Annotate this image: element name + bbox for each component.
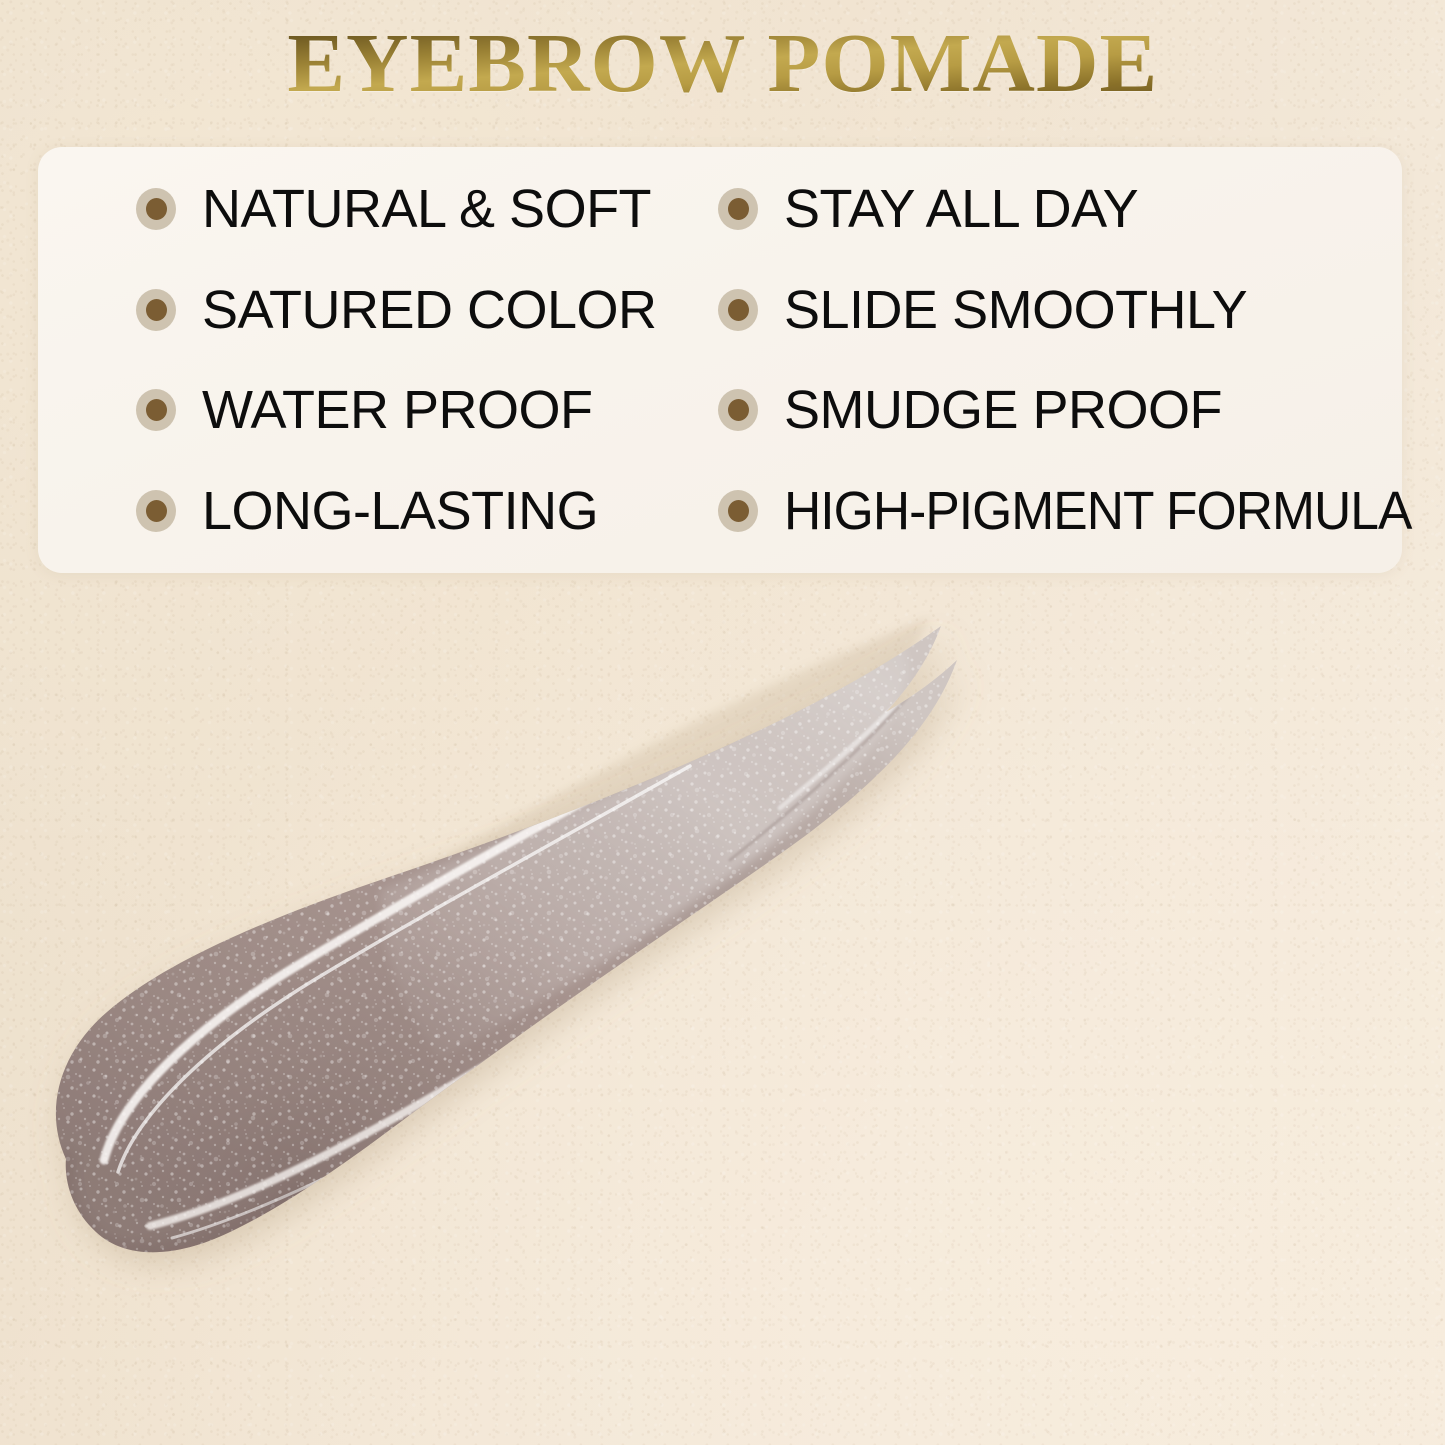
feature-item-natural-soft: NATURAL & SOFT [38, 159, 658, 260]
feature-card: NATURAL & SOFT STAY ALL DAY SATURED COLO… [38, 147, 1402, 573]
feature-label: STAY ALL DAY [784, 182, 1138, 236]
feature-item-high-pigment-formula: HIGH-PIGMENT FORMULA [658, 461, 1402, 562]
feature-item-water-proof: WATER PROOF [38, 360, 658, 461]
page-title: EYEBROW POMADE [287, 22, 1158, 106]
bullet-dot-icon [718, 389, 758, 431]
feature-label: SLIDE SMOOTHLY [784, 283, 1247, 337]
bullet-dot-icon [136, 389, 176, 431]
pomade-swatch-area [0, 560, 1445, 1445]
feature-label: SMUDGE PROOF [784, 383, 1222, 437]
feature-item-stay-all-day: STAY ALL DAY [658, 159, 1402, 260]
bullet-dot-icon [136, 188, 176, 230]
pomade-smear-swatch [0, 560, 1445, 1445]
feature-label: NATURAL & SOFT [202, 182, 651, 236]
swatch-drip-detail [300, 1200, 366, 1260]
swatch-shimmer-coarse [0, 560, 1445, 1445]
feature-item-long-lasting: LONG-LASTING [38, 461, 658, 562]
bullet-dot-icon [718, 289, 758, 331]
bullet-dot-icon [136, 490, 176, 532]
product-infographic-page: EYEBROW POMADE NATURAL & SOFT STAY ALL D… [0, 0, 1445, 1445]
bullet-dot-icon [136, 289, 176, 331]
title-area: EYEBROW POMADE [0, 22, 1445, 106]
bullet-dot-icon [718, 490, 758, 532]
feature-item-slide-smoothly: SLIDE SMOOTHLY [658, 260, 1402, 361]
feature-item-satured-color: SATURED COLOR [38, 260, 658, 361]
bullet-dot-icon [718, 188, 758, 230]
feature-item-smudge-proof: SMUDGE PROOF [658, 360, 1402, 461]
feature-label: SATURED COLOR [202, 283, 657, 337]
feature-label: WATER PROOF [202, 383, 592, 437]
feature-label: LONG-LASTING [202, 484, 598, 538]
feature-label: HIGH-PIGMENT FORMULA [784, 484, 1411, 538]
feature-grid: NATURAL & SOFT STAY ALL DAY SATURED COLO… [38, 147, 1402, 573]
